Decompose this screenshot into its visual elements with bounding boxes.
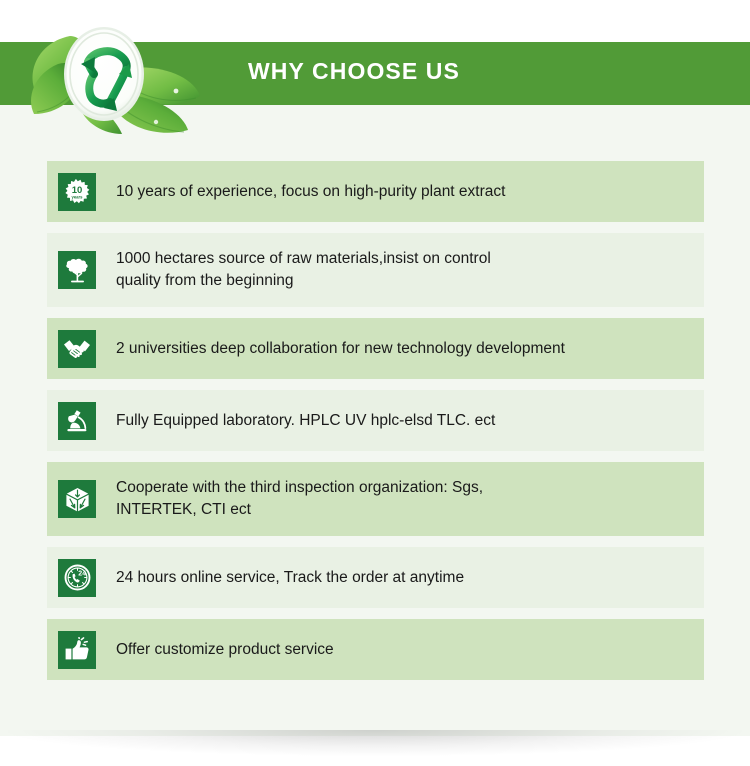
feature-text: 1000 hectares source of raw materials,in… xyxy=(116,248,704,292)
thumbs-up-icon xyxy=(58,631,96,669)
why-choose-us-page: WHY CHOOSE US xyxy=(0,0,750,766)
feature-row[interactable]: 10 years 10 years of experience, focus o… xyxy=(47,161,704,222)
svg-text:24: 24 xyxy=(78,570,86,577)
svg-text:years: years xyxy=(72,194,84,199)
badge-10-years-icon: 10 years xyxy=(58,173,96,211)
microscope-icon xyxy=(58,402,96,440)
handshake-icon xyxy=(58,330,96,368)
feature-row[interactable]: Fully Equipped laboratory. HPLC UV hplc-… xyxy=(47,390,704,451)
clock-24h-phone-icon: 24 xyxy=(58,559,96,597)
tree-icon xyxy=(58,251,96,289)
feature-text: 10 years of experience, focus on high-pu… xyxy=(116,181,704,203)
feature-text: Cooperate with the third inspection orga… xyxy=(116,477,704,521)
feature-text: 24 hours online service, Track the order… xyxy=(116,567,704,589)
leaf-recycle-logo xyxy=(18,12,228,134)
cube-box-icon xyxy=(58,480,96,518)
feature-row[interactable]: 1000 hectares source of raw materials,in… xyxy=(47,233,704,307)
feature-text: Fully Equipped laboratory. HPLC UV hplc-… xyxy=(116,410,704,432)
feature-row[interactable]: 2 universities deep collaboration for ne… xyxy=(47,318,704,379)
feature-text: Offer customize product service xyxy=(116,639,704,661)
feature-row[interactable]: Offer customize product service xyxy=(47,619,704,680)
feature-list: 10 years 10 years of experience, focus o… xyxy=(47,161,704,691)
feature-row[interactable]: 24 24 hours online service, Track the or… xyxy=(47,547,704,608)
feature-row[interactable]: Cooperate with the third inspection orga… xyxy=(47,462,704,536)
page-title: WHY CHOOSE US xyxy=(248,58,460,85)
feature-text: 2 universities deep collaboration for ne… xyxy=(116,338,704,360)
